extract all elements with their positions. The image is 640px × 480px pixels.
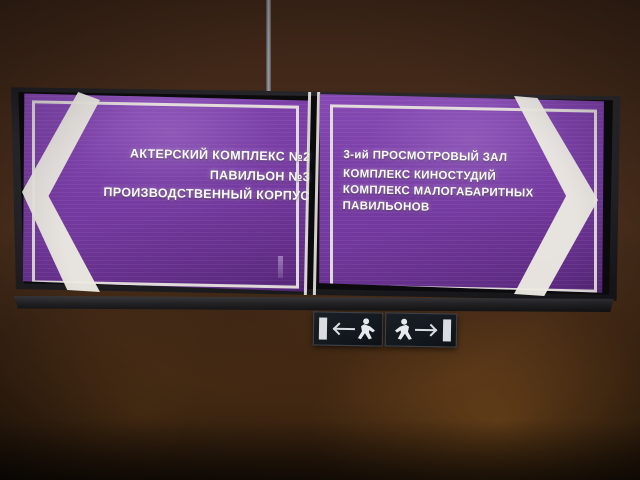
ceiling-support-rod [266,0,271,92]
floor-shadow [0,420,640,480]
panel-divider [306,86,320,302]
running-man-right-exit-icon [386,313,457,346]
running-man-left-exit-icon [314,312,383,345]
panel-right-line-3: КОМПЛЕКС МАЛОГАБАРИТНЫХ ПАВИЛЬОНОВ [342,183,588,219]
panel-right-text: 3-ий ПРОСМОТРОВЫЙ ЗАЛ КОМПЛЕКС КИНОСТУДИ… [342,146,588,219]
panel-left-mini-label [278,256,283,278]
photo-scene: АКТЕРСКИЙ КОМПЛЕКС №2 ПАВИЛЬОН №3 ПРОИЗВ… [0,0,640,480]
exit-sign-left [313,311,384,346]
panel-left-text: АКТЕРСКИЙ КОМПЛЕКС №2 ПАВИЛЬОН №3 ПРОИЗВ… [59,143,310,206]
exit-sign-right [385,312,458,347]
